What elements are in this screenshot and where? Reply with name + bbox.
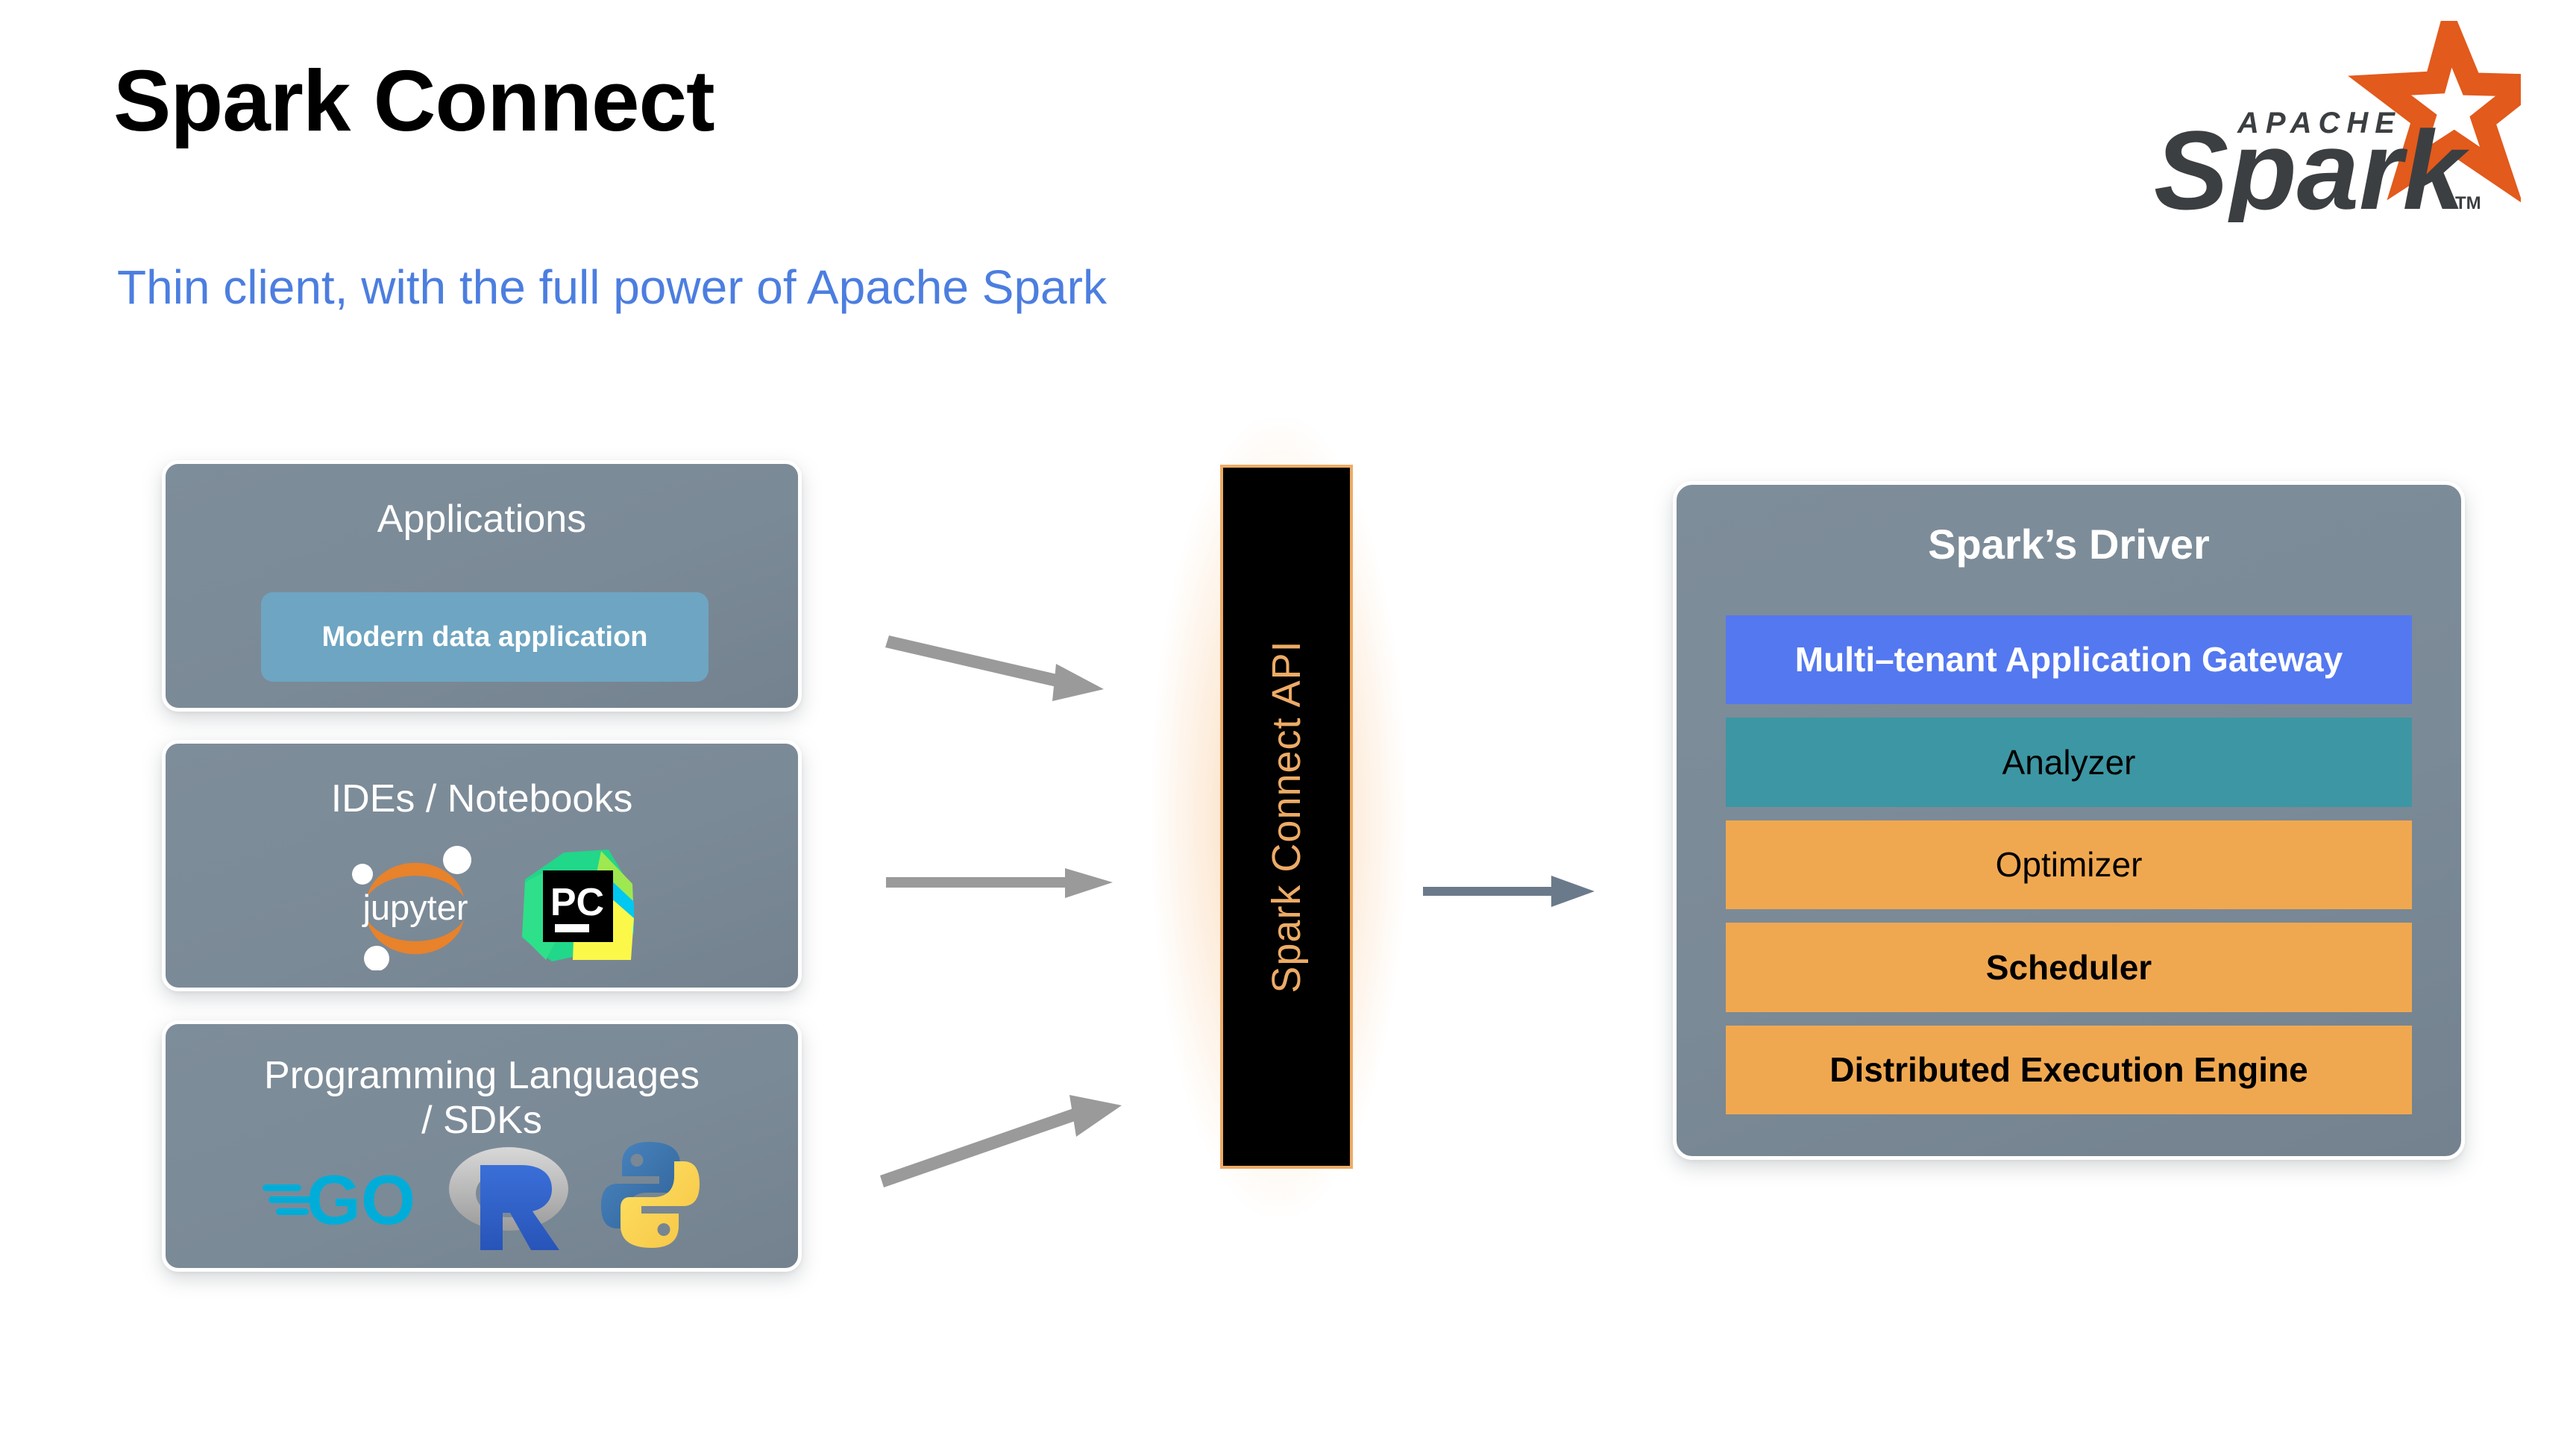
driver-row-analyzer-label: Analyzer bbox=[2002, 744, 2136, 782]
svg-text:TM: TM bbox=[2455, 193, 2481, 213]
golang-logo: GO bbox=[263, 1153, 418, 1237]
spark-connect-api-bar[interactable]: Spark Connect API bbox=[1220, 465, 1353, 1169]
r-language-logo bbox=[446, 1140, 571, 1250]
client-box-applications[interactable]: Applications Modern data application bbox=[162, 460, 802, 712]
driver-row-gateway-label: Multi–tenant Application Gateway bbox=[1795, 641, 2343, 679]
sparks-driver-panel[interactable]: Spark’s Driver Multi–tenant Application … bbox=[1673, 481, 2465, 1160]
slide-canvas: Spark Connect Thin client, with the full… bbox=[0, 0, 2576, 1447]
driver-row-analyzer[interactable]: Analyzer bbox=[1726, 718, 2412, 806]
driver-row-scheduler-label: Scheduler bbox=[1986, 949, 2152, 987]
client-box-ides-notebooks[interactable]: IDEs / Notebooks jupyter bbox=[162, 740, 802, 991]
jupyter-wordmark: jupyter bbox=[361, 888, 468, 927]
driver-row-execution-engine-label: Distributed Execution Engine bbox=[1829, 1051, 2308, 1089]
jupyter-logo: jupyter bbox=[346, 842, 485, 970]
page-subtitle: Thin client, with the full power of Apac… bbox=[117, 261, 1107, 313]
apache-spark-logo: APACHE Spark TM bbox=[2133, 21, 2521, 222]
arrow-applications-to-api bbox=[880, 612, 1208, 716]
ides-logo-row: jupyter PC bbox=[166, 835, 798, 977]
pycharm-wordmark: PC bbox=[550, 881, 604, 924]
sparks-driver-title: Spark’s Driver bbox=[1677, 521, 2461, 568]
languages-logo-row: GO bbox=[166, 1129, 798, 1261]
client-box-programming-languages-sdks[interactable]: Programming Languages / SDKs GO bbox=[162, 1020, 802, 1272]
arrow-ides-to-api bbox=[880, 856, 1208, 916]
golang-wordmark: GO bbox=[307, 1161, 415, 1237]
driver-component-list: Multi–tenant Application Gateway Analyze… bbox=[1726, 615, 2412, 1114]
python-logo bbox=[600, 1140, 701, 1249]
svg-text:Spark: Spark bbox=[2154, 107, 2469, 222]
spark-connect-api-label: Spark Connect API bbox=[1263, 640, 1310, 993]
modern-data-application-label: Modern data application bbox=[321, 621, 647, 653]
driver-row-optimizer[interactable]: Optimizer bbox=[1726, 820, 2412, 909]
arrow-api-to-driver bbox=[1423, 864, 1617, 923]
applications-title: Applications bbox=[166, 497, 798, 542]
pycharm-logo: PC bbox=[521, 850, 634, 963]
page-title: Spark Connect bbox=[113, 56, 714, 147]
driver-row-gateway[interactable]: Multi–tenant Application Gateway bbox=[1726, 615, 2412, 704]
ides-notebooks-title: IDEs / Notebooks bbox=[166, 777, 798, 822]
modern-data-application-chip[interactable]: Modern data application bbox=[261, 592, 709, 682]
driver-row-scheduler[interactable]: Scheduler bbox=[1726, 923, 2412, 1011]
arrow-languages-to-api bbox=[865, 1067, 1223, 1201]
driver-row-optimizer-label: Optimizer bbox=[1996, 846, 2143, 884]
driver-row-execution-engine[interactable]: Distributed Execution Engine bbox=[1726, 1026, 2412, 1114]
